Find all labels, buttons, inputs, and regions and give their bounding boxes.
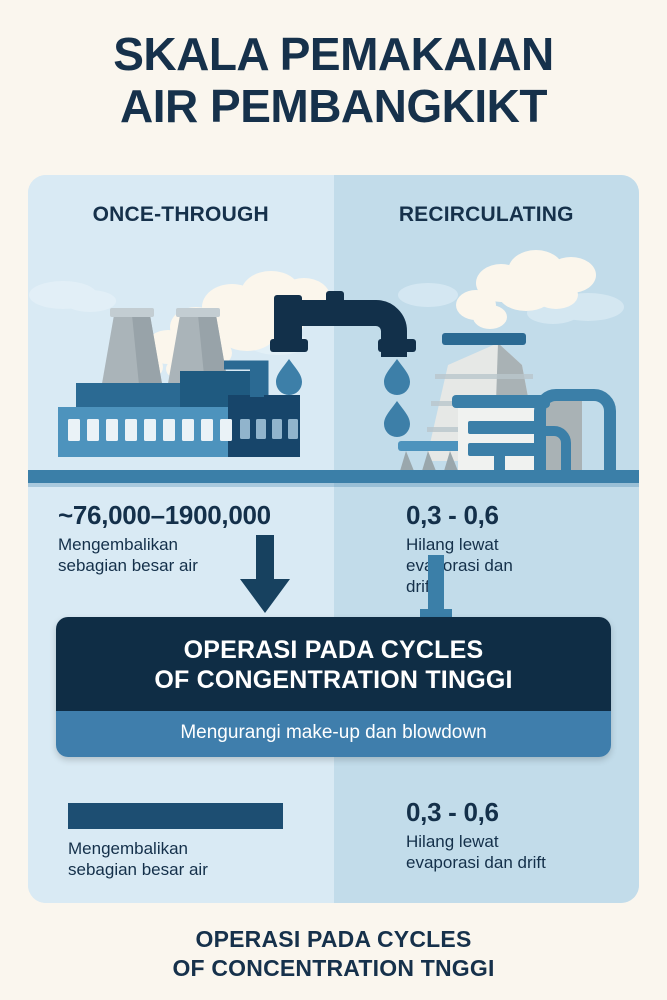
faucet-icon	[270, 291, 416, 357]
building-windows	[68, 419, 232, 441]
page-title-line-1: SKALA PEMAKAIAN	[0, 28, 667, 80]
callout-head-line-2: OF CONGENTRATION TINGGI	[70, 665, 597, 695]
stat-caption-line-2: sebagian besar air	[68, 859, 208, 880]
evaporation-bar-marker	[416, 555, 456, 622]
return-water-bar-marker	[68, 803, 283, 829]
page-title-line-2: AIR PEMBANGKIKT	[0, 80, 667, 132]
stat-caption: Mengembalikan sebagian besar air	[68, 838, 208, 880]
callout-head-line-1: OPERASI PADA CYCLES	[70, 635, 597, 665]
column-header-once-through: ONCE-THROUGH	[28, 203, 334, 227]
callout-head: OPERASI PADA CYCLES OF CONGENTRATION TIN…	[56, 617, 611, 711]
illustration-area	[28, 235, 639, 485]
cooling-tower-left-1	[100, 308, 164, 395]
footer-caption: OPERASI PADA CYCLES OF CONCENTRATION TNG…	[0, 925, 667, 983]
plant-building-right	[452, 395, 610, 474]
stat-caption: Hilang lewat evaporasi dan drift	[406, 831, 546, 873]
ground-line	[28, 470, 639, 483]
footer-line-2: OF CONCENTRATION TNGGI	[0, 954, 667, 983]
page-title: SKALA PEMAKAIAN AIR PEMBANGKIKT	[0, 28, 667, 132]
ground-shadow	[28, 483, 639, 487]
stat-value: ~76,000–1900,000	[58, 500, 271, 531]
stat-caption-line-2: evaporasi dan drift	[406, 852, 546, 873]
stat-caption-line-1: Mengembalikan	[68, 838, 208, 859]
stat-bottom-once-through: Mengembalikan sebagian besar air	[68, 835, 208, 880]
stat-value: 0,3 - 0,6	[406, 797, 546, 828]
stat-caption-line-1: Hilang lewat	[406, 831, 546, 852]
callout-subtitle: Mengurangi make-up dan blowdown	[56, 711, 611, 757]
footer-line-1: OPERASI PADA CYCLES	[0, 925, 667, 954]
comparison-panel: ONCE-THROUGH RECIRCULATING	[28, 175, 639, 903]
down-arrow-icon	[236, 535, 294, 618]
stat-value: 0,3 - 0,6	[406, 500, 513, 531]
stat-caption-line-1: Hilang lewat	[406, 534, 513, 555]
column-header-recirculating: RECIRCULATING	[334, 203, 640, 227]
callout-box: OPERASI PADA CYCLES OF CONGENTRATION TIN…	[56, 617, 611, 757]
stat-bottom-recirculating: 0,3 - 0,6 Hilang lewat evaporasi dan dri…	[406, 797, 546, 873]
